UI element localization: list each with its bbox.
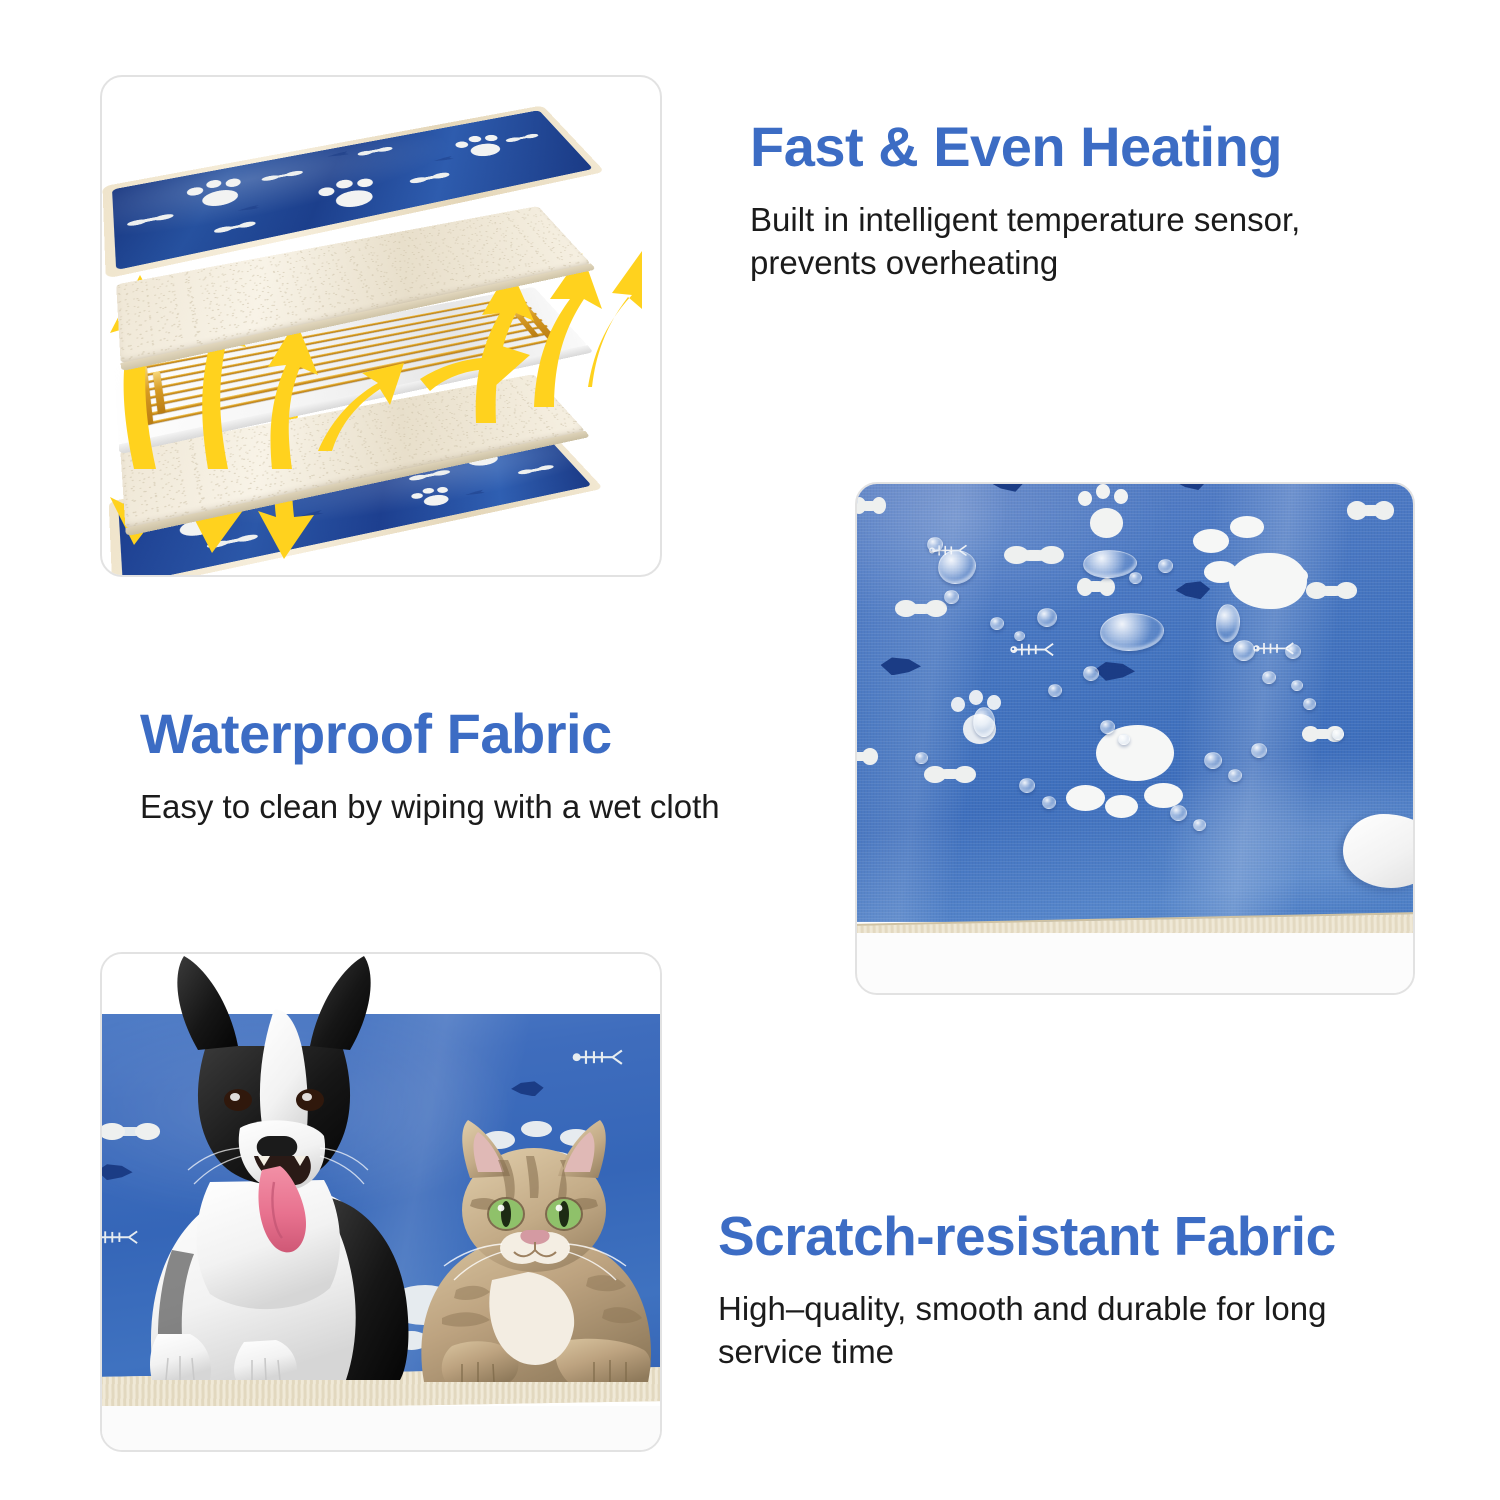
fish-skeleton-icon xyxy=(570,1044,623,1070)
water-droplet xyxy=(1291,680,1303,691)
water-droplet xyxy=(1170,805,1187,821)
dog-border-collie xyxy=(114,952,444,1380)
water-droplet xyxy=(1118,734,1130,745)
headline-fast-even-heating: Fast & Even Heating xyxy=(750,118,1410,177)
subline-scratch-resistant-fabric: High–quality, smooth and durable for lon… xyxy=(718,1288,1418,1374)
water-droplet xyxy=(1014,631,1025,641)
water-droplet xyxy=(1193,819,1206,831)
water-droplet xyxy=(927,537,943,552)
water-droplet xyxy=(915,752,928,764)
water-droplet xyxy=(1037,608,1057,627)
feature-image-waterproof-fabric-closeup xyxy=(855,482,1415,995)
feature-image-dog-and-cat-on-mat xyxy=(100,952,662,1452)
water-droplet xyxy=(1228,769,1242,782)
water-droplet xyxy=(1303,698,1316,710)
feature-text-fast-even-heating: Fast & Even Heating Built in intelligent… xyxy=(750,118,1410,285)
feature-text-waterproof-fabric: Waterproof Fabric Easy to clean by wipin… xyxy=(140,705,860,829)
water-droplet xyxy=(1233,640,1255,661)
feature-text-scratch-resistant-fabric: Scratch-resistant Fabric High–quality, s… xyxy=(718,1208,1458,1374)
waterproof-fabric-surface xyxy=(855,482,1415,922)
subline-fast-even-heating: Built in intelligent temperature sensor,… xyxy=(750,199,1390,285)
headline-waterproof-fabric: Waterproof Fabric xyxy=(140,705,860,764)
headline-scratch-resistant-fabric: Scratch-resistant Fabric xyxy=(718,1208,1458,1266)
water-droplet xyxy=(1204,752,1222,769)
water-droplet xyxy=(1332,729,1344,740)
infographic-stage: Fast & Even Heating Built in intelligent… xyxy=(0,0,1500,1500)
subline-waterproof-fabric: Easy to clean by wiping with a wet cloth xyxy=(140,786,860,829)
feature-image-exploded-layer-diagram xyxy=(100,75,662,577)
water-droplet xyxy=(1158,559,1173,573)
water-droplet xyxy=(973,707,995,737)
cat-tabby xyxy=(398,1114,662,1384)
water-droplet xyxy=(1251,743,1267,758)
